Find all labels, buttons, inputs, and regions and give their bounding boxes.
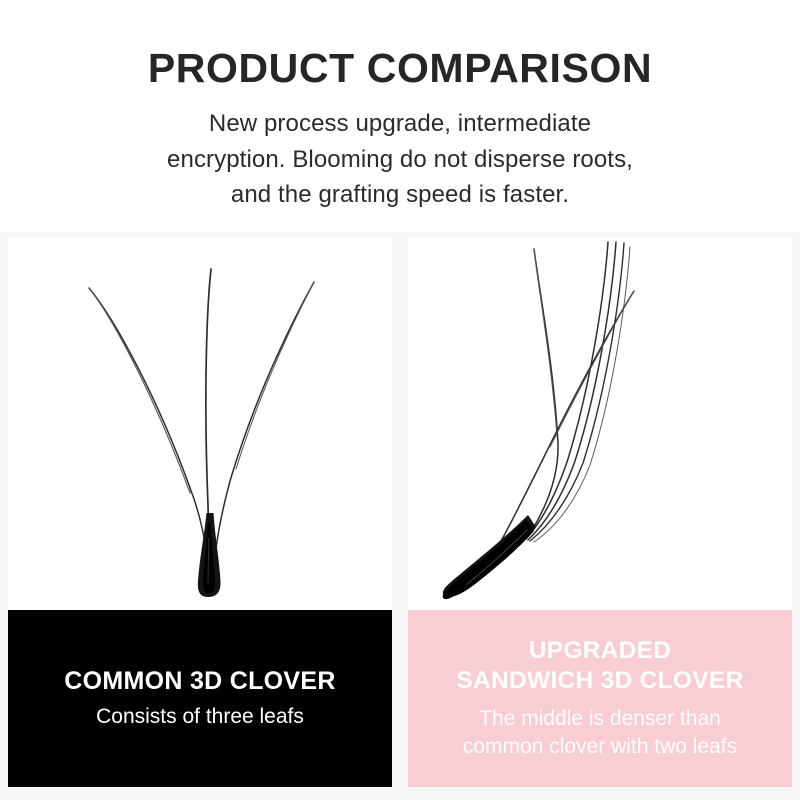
caption-title-line-1: COMMON 3D CLOVER [64,666,335,696]
common-3d-clover-lash-photo [8,237,392,610]
page-subtitle: New process upgrade, intermediate encryp… [100,106,700,213]
caption-upgraded-sandwich-3d-clover: UPGRADED SANDWICH 3D CLOVER The middle i… [408,610,792,787]
header: PRODUCT COMPARISON New process upgrade, … [0,0,800,232]
caption-title: COMMON 3D CLOVER [64,666,335,696]
caption-title-line-2: SANDWICH 3D CLOVER [456,666,743,696]
subtitle-line-2: encryption. Blooming do not disperse roo… [100,142,700,178]
subtitle-line-1: New process upgrade, intermediate [100,106,700,142]
page-title: PRODUCT COMPARISON [0,44,800,92]
caption-subtitle: Consists of three leafs [96,703,304,731]
caption-common-3d-clover: COMMON 3D CLOVER Consists of three leafs [8,610,392,787]
panel-common-3d-clover[interactable]: COMMON 3D CLOVER Consists of three leafs [8,237,392,787]
caption-subtitle: The middle is denser than common clover … [463,705,737,761]
caption-subtitle-line-1: The middle is denser than [463,705,737,733]
caption-subtitle-line-2: common clover with two leafs [463,733,737,761]
panel-upgraded-sandwich-3d-clover[interactable]: UPGRADED SANDWICH 3D CLOVER The middle i… [408,237,792,787]
upgraded-sandwich-3d-clover-lash-photo [408,237,792,610]
caption-title-line-1: UPGRADED [456,636,743,666]
product-comparison-page: PRODUCT COMPARISON New process upgrade, … [0,0,800,800]
subtitle-line-3: and the grafting speed is faster. [100,177,700,213]
caption-title: UPGRADED SANDWICH 3D CLOVER [456,636,743,696]
caption-subtitle-line-1: Consists of three leafs [96,703,304,731]
comparison-panels: COMMON 3D CLOVER Consists of three leafs [0,232,800,800]
